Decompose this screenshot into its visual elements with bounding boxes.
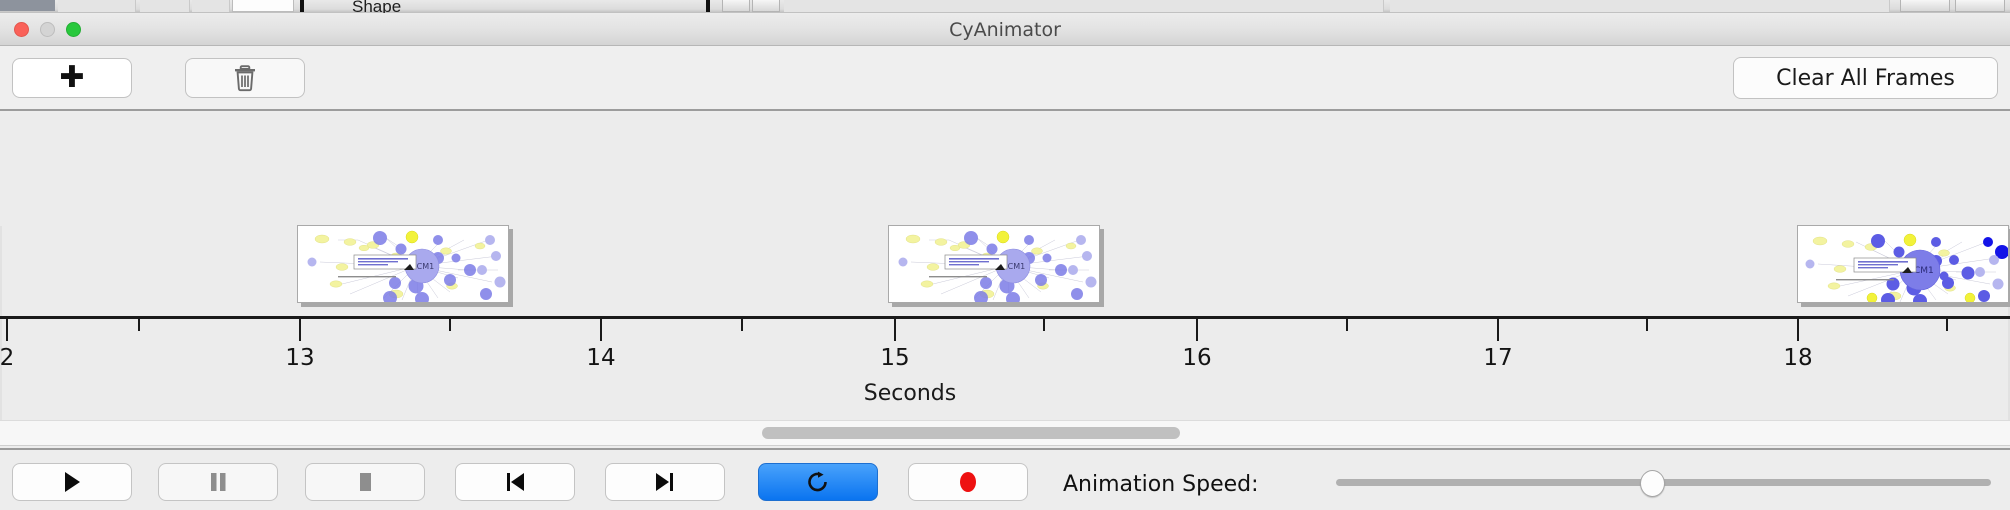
background-segment	[58, 0, 136, 12]
timeline-minor-tick	[138, 319, 140, 331]
timeline-tick-label: 18	[1783, 345, 1812, 371]
network-preview-saturated: MCM1	[1798, 226, 2009, 303]
timeline-major-tick	[6, 319, 8, 341]
timeline-scrollbar[interactable]	[0, 420, 2010, 446]
play-icon	[61, 470, 83, 494]
network-preview-pale: MCM1	[298, 226, 509, 303]
toolbar: ✚ Clear All Frames	[0, 46, 2010, 111]
delete-frame-button[interactable]	[185, 58, 305, 98]
background-window-label: Shape	[352, 0, 401, 13]
window-title: CyAnimator	[0, 19, 2010, 41]
frame-timeline-panel[interactable]: MCM1	[0, 113, 2010, 420]
background-caret	[706, 0, 710, 12]
add-frame-button[interactable]: ✚	[12, 58, 132, 98]
background-active-tab	[0, 0, 55, 11]
timeline-major-tick	[600, 319, 602, 341]
timeline-major-tick	[299, 319, 301, 341]
network-preview-pale: MCM1	[889, 226, 1100, 303]
timeline-minor-tick	[1346, 319, 1348, 331]
clear-all-frames-label: Clear All Frames	[1776, 66, 1955, 91]
clear-all-frames-button[interactable]: Clear All Frames	[1733, 57, 1998, 99]
timeline-minor-tick	[1946, 319, 1948, 331]
record-button[interactable]	[908, 463, 1028, 501]
background-button	[722, 0, 750, 12]
timeline-tick-label: 17	[1483, 345, 1512, 371]
plus-icon: ✚	[59, 63, 84, 93]
skip-end-button[interactable]	[605, 463, 725, 501]
animation-speed-slider-thumb[interactable]	[1640, 470, 1665, 497]
timeline-major-tick	[1497, 319, 1499, 341]
timeline-minor-tick	[1646, 319, 1648, 331]
timeline-axis-title: Seconds	[0, 381, 2010, 406]
stop-button[interactable]	[305, 463, 425, 501]
play-button[interactable]	[12, 463, 132, 501]
timeline-tick-label: 15	[880, 345, 909, 371]
timeline-major-tick	[1797, 319, 1799, 341]
background-segment	[192, 0, 230, 12]
timeline-axis	[0, 316, 2010, 319]
skip-back-icon	[502, 470, 528, 494]
background-button	[752, 0, 780, 12]
frame-thumbnail[interactable]: MCM1	[297, 225, 509, 303]
background-button	[1900, 0, 1950, 12]
timeline-tick-label: 13	[285, 345, 314, 371]
background-segment	[140, 0, 190, 12]
timeline-tick-label: 16	[1182, 345, 1211, 371]
record-icon	[956, 469, 980, 495]
loop-button[interactable]	[758, 463, 878, 501]
title-bar: CyAnimator	[0, 13, 2010, 46]
timeline-minor-tick	[1043, 319, 1045, 331]
skip-start-button[interactable]	[455, 463, 575, 501]
stop-icon	[354, 470, 376, 494]
timeline-minor-tick	[449, 319, 451, 331]
timeline-tick-label: 14	[586, 345, 615, 371]
timeline-minor-tick	[741, 319, 743, 331]
pause-icon	[207, 470, 229, 494]
skip-fwd-icon	[652, 470, 678, 494]
timeline-major-tick	[894, 319, 896, 341]
playback-control-bar: Animation Speed:	[0, 448, 2010, 510]
background-segment	[784, 0, 1384, 12]
animation-speed-label: Animation Speed:	[1063, 472, 1259, 497]
background-field	[232, 0, 294, 12]
timeline-major-tick	[1196, 319, 1198, 341]
cyanimator-window: Shape CyAnimator ✚	[0, 0, 2010, 510]
background-window-strip: Shape	[0, 0, 2010, 13]
timeline-scrollbar-thumb[interactable]	[762, 427, 1180, 439]
background-caret	[300, 0, 304, 12]
background-button	[1955, 0, 2005, 12]
background-segment	[1390, 0, 1890, 12]
loop-icon	[806, 469, 830, 495]
frame-thumbnail[interactable]: MCM1	[888, 225, 1100, 303]
pause-button[interactable]	[158, 463, 278, 501]
timeline-tick-label: 2	[0, 345, 14, 371]
frame-thumbnail[interactable]: MCM1	[1797, 225, 2009, 303]
trash-icon	[233, 64, 257, 92]
